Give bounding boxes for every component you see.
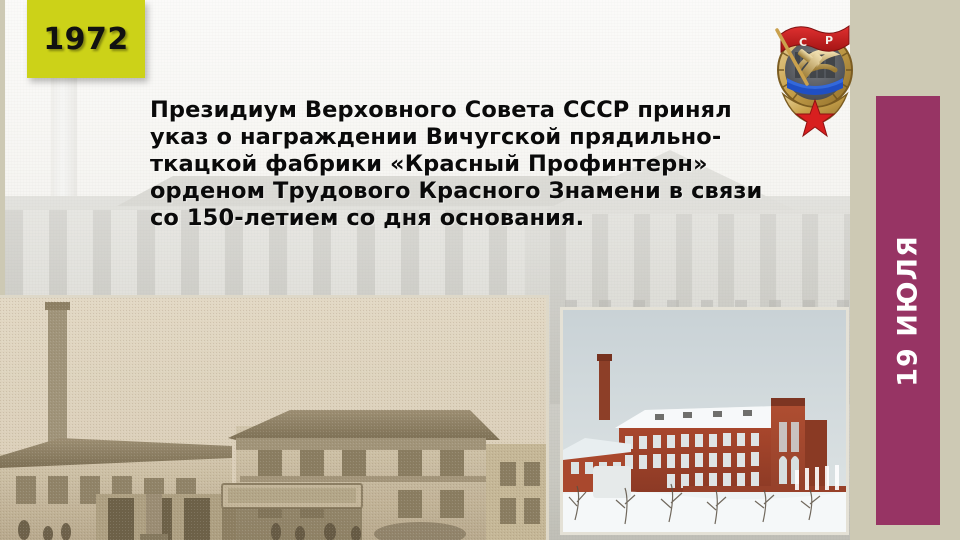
svg-text:С: С: [799, 36, 807, 49]
year-badge: 1972: [27, 0, 145, 78]
year-badge-label: 1972: [43, 22, 129, 57]
slide-root: 1972 Президиум Верховного Совета СССР пр…: [0, 0, 960, 540]
date-bar-label: 19 ИЮЛЯ: [893, 235, 924, 386]
order-of-red-banner-of-labour-icon: С Р: [763, 8, 867, 138]
body-text: Президиум Верховного Совета СССР принял …: [150, 97, 750, 232]
date-bar: 19 ИЮЛЯ: [876, 96, 940, 525]
historic-factory-photo: [0, 298, 546, 540]
body-text-line: со 150-летием со дня основания.: [150, 205, 750, 232]
body-text-line: ткацкой фабрики «Красный Профинтерн»: [150, 151, 750, 178]
modern-factory-winter-photo: [563, 310, 846, 532]
body-text-line: орденом Трудового Красного Знамени в свя…: [150, 178, 750, 205]
svg-text:Р: Р: [825, 34, 833, 47]
body-text-line: указ о награждении Вичугской прядильно-: [150, 124, 750, 151]
body-text-line: Президиум Верховного Совета СССР принял: [150, 97, 750, 124]
